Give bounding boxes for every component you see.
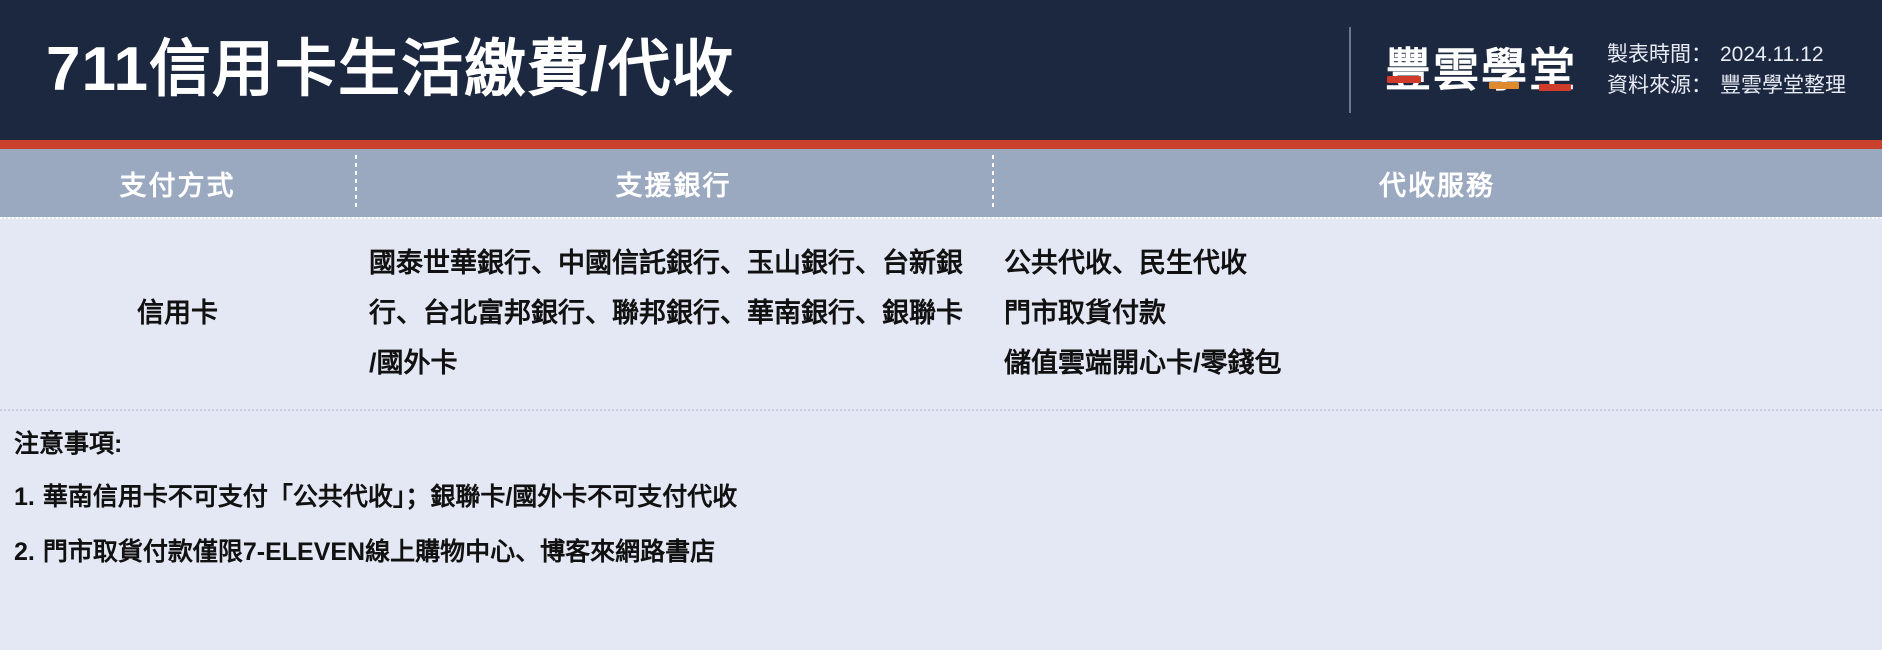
metadata-source-label: 資料來源： bbox=[1607, 70, 1712, 101]
column-header-collection-services: 代收服務 bbox=[992, 149, 1882, 217]
table-row: 信用卡 國泰世華銀行、中國信託銀行、玉山銀行、台新銀 行、台北富邦銀行、聯邦銀行… bbox=[0, 217, 1882, 411]
logo-accent-mark-red-left bbox=[1387, 76, 1421, 83]
service-line: 門市取貨付款 bbox=[1004, 289, 1882, 339]
note-item: 1. 華南信用卡不可支付「公共代收」；銀聯卡/國外卡不可支付代收 bbox=[14, 480, 1882, 515]
bank-line: /國外卡 bbox=[363, 339, 982, 389]
header-metadata: 製表時間： 2024.11.12 資料來源： 豐雲學堂整理 bbox=[1607, 39, 1846, 101]
notes-title: 注意事項: bbox=[14, 427, 1882, 462]
header-right-group: 豐雲學堂 製表時間： 2024.11.12 資料來源： 豐雲學堂整理 bbox=[1349, 20, 1846, 120]
note-number: 1. bbox=[14, 480, 35, 515]
logo-accent-mark-red-right bbox=[1539, 84, 1571, 91]
column-header-supported-banks: 支援銀行 bbox=[355, 149, 992, 217]
service-line: 公共代收、民生代收 bbox=[1004, 239, 1882, 289]
metadata-date-label: 製表時間： bbox=[1607, 39, 1712, 70]
metadata-date-value: 2024.11.12 bbox=[1720, 39, 1824, 70]
service-line: 儲值雲端開心卡/零錢包 bbox=[1004, 339, 1882, 389]
note-text: 華南信用卡不可支付「公共代收」；銀聯卡/國外卡不可支付代收 bbox=[43, 480, 1882, 515]
data-table: 支付方式 支援銀行 代收服務 信用卡 國泰世華銀行、中國信託銀行、玉山銀行、台新… bbox=[0, 149, 1882, 650]
metadata-date-row: 製表時間： 2024.11.12 bbox=[1607, 39, 1846, 70]
notes-section: 注意事項: 1. 華南信用卡不可支付「公共代收」；銀聯卡/國外卡不可支付代收 2… bbox=[0, 411, 1882, 650]
infographic-page: 711信用卡生活繳費/代收 豐雲學堂 製表時間： 2024.11.12 資料來源… bbox=[0, 0, 1882, 650]
bank-line: 行、台北富邦銀行、聯邦銀行、華南銀行、銀聯卡 bbox=[363, 289, 982, 339]
cell-payment-method: 信用卡 bbox=[0, 219, 355, 409]
cell-collection-services: 公共代收、民生代收 門市取貨付款 儲值雲端開心卡/零錢包 bbox=[992, 219, 1882, 409]
note-item: 2. 門市取貨付款僅限7-ELEVEN線上購物中心、博客來網路書店 bbox=[14, 535, 1882, 570]
header-accent-rule bbox=[0, 140, 1882, 149]
note-text: 門市取貨付款僅限7-ELEVEN線上購物中心、博客來網路書店 bbox=[43, 535, 1882, 570]
note-number: 2. bbox=[14, 535, 35, 570]
bank-line: 國泰世華銀行、中國信託銀行、玉山銀行、台新銀 bbox=[363, 239, 982, 289]
page-header: 711信用卡生活繳費/代收 豐雲學堂 製表時間： 2024.11.12 資料來源… bbox=[0, 0, 1882, 140]
cell-supported-banks: 國泰世華銀行、中國信託銀行、玉山銀行、台新銀 行、台北富邦銀行、聯邦銀行、華南銀… bbox=[355, 219, 992, 409]
page-title: 711信用卡生活繳費/代收 bbox=[46, 39, 734, 101]
brand-logo: 豐雲學堂 bbox=[1385, 47, 1577, 93]
vertical-divider bbox=[1349, 27, 1351, 113]
logo-accent-mark-orange bbox=[1489, 82, 1519, 89]
table-header-row: 支付方式 支援銀行 代收服務 bbox=[0, 149, 1882, 217]
metadata-source-row: 資料來源： 豐雲學堂整理 bbox=[1607, 70, 1846, 101]
metadata-source-value: 豐雲學堂整理 bbox=[1720, 70, 1846, 101]
column-header-payment-method: 支付方式 bbox=[0, 149, 355, 217]
